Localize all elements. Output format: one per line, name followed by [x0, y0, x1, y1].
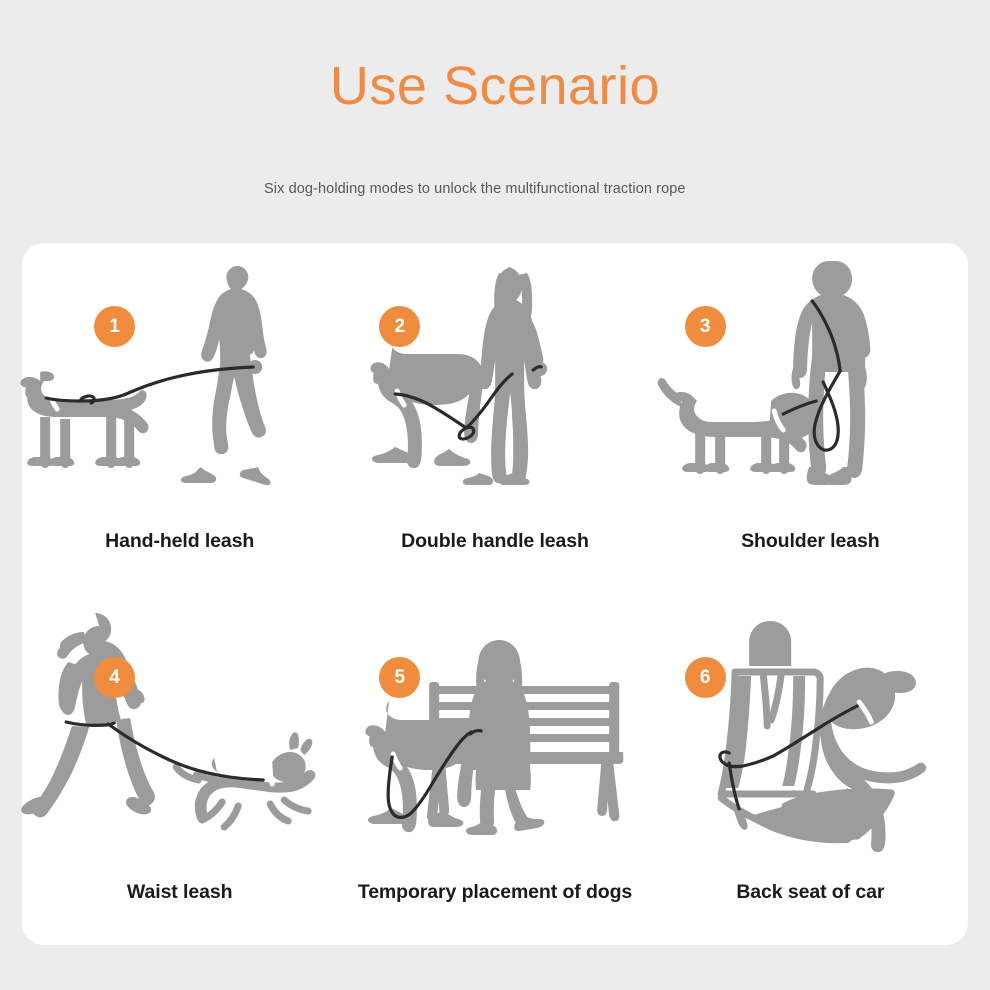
scenario-item-1[interactable]: 1 Hand-held leash — [22, 243, 337, 594]
scenario-item-2[interactable]: 2 Double handle leash — [337, 243, 652, 594]
scenario-badge-4: 4 — [94, 657, 135, 698]
car-seat-dog-belt-icon — [653, 602, 968, 864]
page-subtitle: Six dog-holding modes to unlock the mult… — [264, 180, 716, 199]
scenario-label-6: Back seat of car — [653, 881, 968, 904]
scenario-item-5[interactable]: 5 Temporary placement of dogs — [337, 594, 652, 945]
scenario-label-2: Double handle leash — [337, 530, 652, 553]
infographic-page: Use Scenario Six dog-holding modes to un… — [0, 0, 990, 990]
walking-dog-hand-leash-icon — [22, 251, 337, 513]
scenario-label-1: Hand-held leash — [22, 530, 337, 553]
scenario-label-4: Waist leash — [22, 881, 337, 904]
man-crossbody-shoulder-leash-icon — [653, 251, 968, 513]
running-woman-waist-leash-icon — [22, 602, 337, 864]
scenario-badge-6: 6 — [685, 657, 726, 698]
scenario-badge-3: 3 — [685, 306, 726, 347]
scenario-label-5: Temporary placement of dogs — [337, 881, 652, 904]
sitting-dog-double-handle-icon — [337, 251, 652, 513]
page-header: Use Scenario Six dog-holding modes to un… — [0, 0, 990, 230]
scenario-badge-1: 1 — [94, 306, 135, 347]
scenarios-grid: 1 Hand-held leash — [22, 243, 968, 945]
page-title: Use Scenario — [0, 58, 990, 115]
scenario-item-3[interactable]: 3 Shoulder leash — [653, 243, 968, 594]
scenario-item-4[interactable]: 4 Waist leash — [22, 594, 337, 945]
scenario-label-3: Shoulder leash — [653, 530, 968, 553]
bench-tether-dog-icon — [337, 602, 652, 864]
scenario-item-6[interactable]: 6 Back seat of car — [653, 594, 968, 945]
scenarios-card: 1 Hand-held leash — [22, 243, 968, 945]
